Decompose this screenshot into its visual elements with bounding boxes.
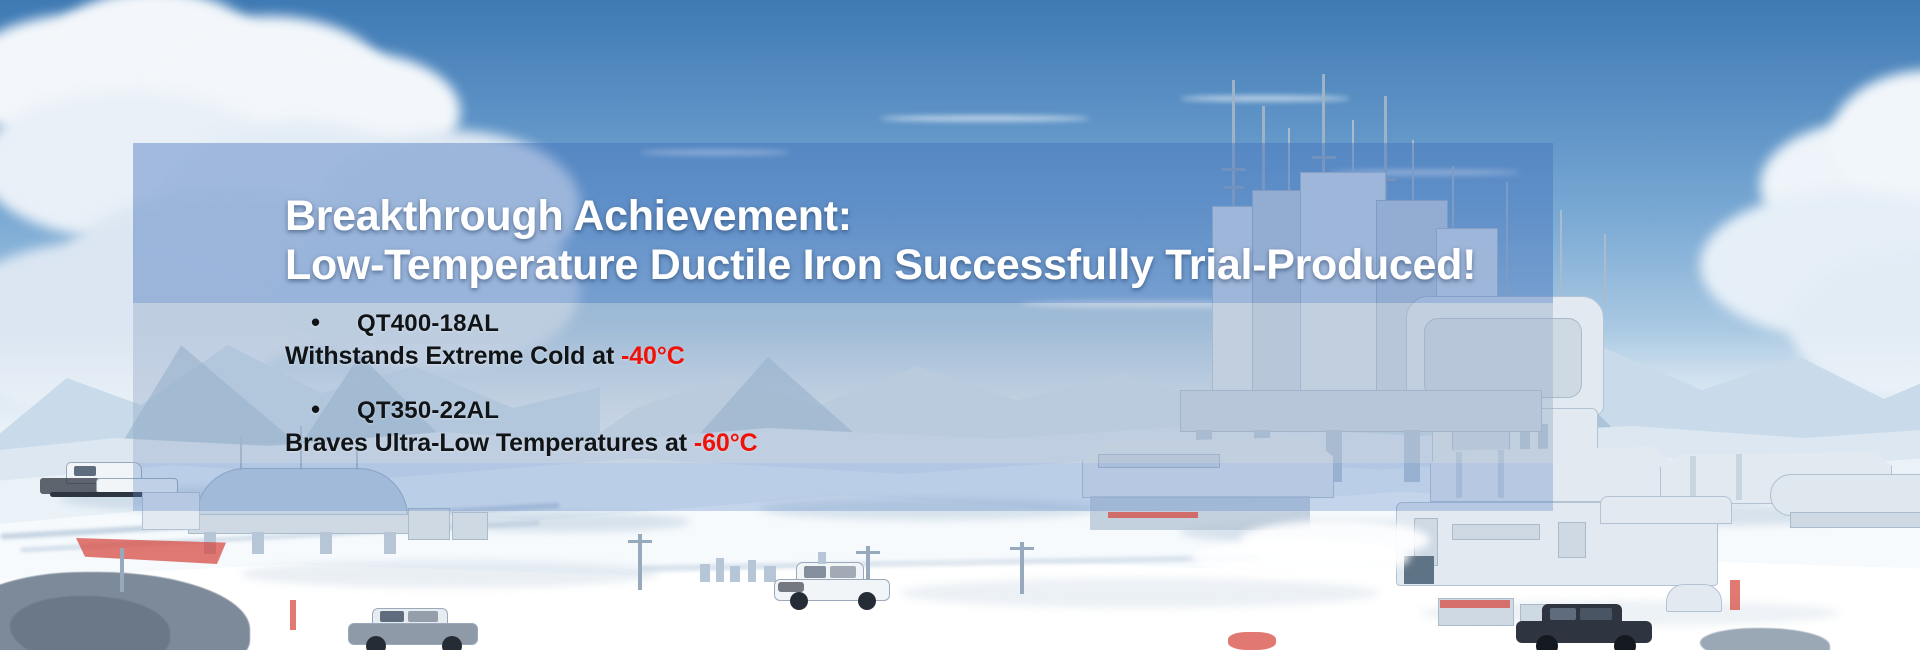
- banner-headline: Breakthrough Achievement: Low-Temperatur…: [285, 192, 1535, 290]
- list-item: • QT350-22AL Braves Ultra-Low Temperatur…: [285, 397, 1385, 458]
- red-pole-marker: [290, 600, 296, 630]
- bullet-dot-icon: •: [311, 396, 320, 422]
- headline-line-2: Low-Temperature Ductile Iron Successfull…: [285, 241, 1535, 290]
- headline-line-1: Breakthrough Achievement:: [285, 192, 1535, 241]
- black-suv-right: [1516, 604, 1656, 650]
- temperature-value: -40°C: [621, 342, 685, 370]
- temperature-value: -60°C: [694, 429, 758, 457]
- red-debris-center: [1228, 632, 1276, 650]
- product-code-row: • QT400-18AL: [285, 310, 1385, 338]
- product-description-row: Braves Ultra-Low Temperatures at -60°C: [285, 429, 1385, 458]
- white-suv: [774, 562, 892, 606]
- product-bullet-list: • QT400-18AL Withstands Extreme Cold at …: [285, 310, 1385, 484]
- product-code-row: • QT350-22AL: [285, 397, 1385, 425]
- product-description-row: Withstands Extreme Cold at -40°C: [285, 342, 1385, 371]
- dark-suv-foreground: [348, 608, 480, 650]
- product-description-text: Braves Ultra-Low Temperatures at: [285, 429, 694, 457]
- list-item: • QT400-18AL Withstands Extreme Cold at …: [285, 310, 1385, 371]
- banner-stage: Breakthrough Achievement: Low-Temperatur…: [0, 0, 1920, 650]
- bullet-dot-icon: •: [311, 309, 320, 335]
- product-code: QT350-22AL: [357, 397, 499, 424]
- product-description-text: Withstands Extreme Cold at: [285, 342, 621, 370]
- product-code: QT400-18AL: [357, 310, 499, 337]
